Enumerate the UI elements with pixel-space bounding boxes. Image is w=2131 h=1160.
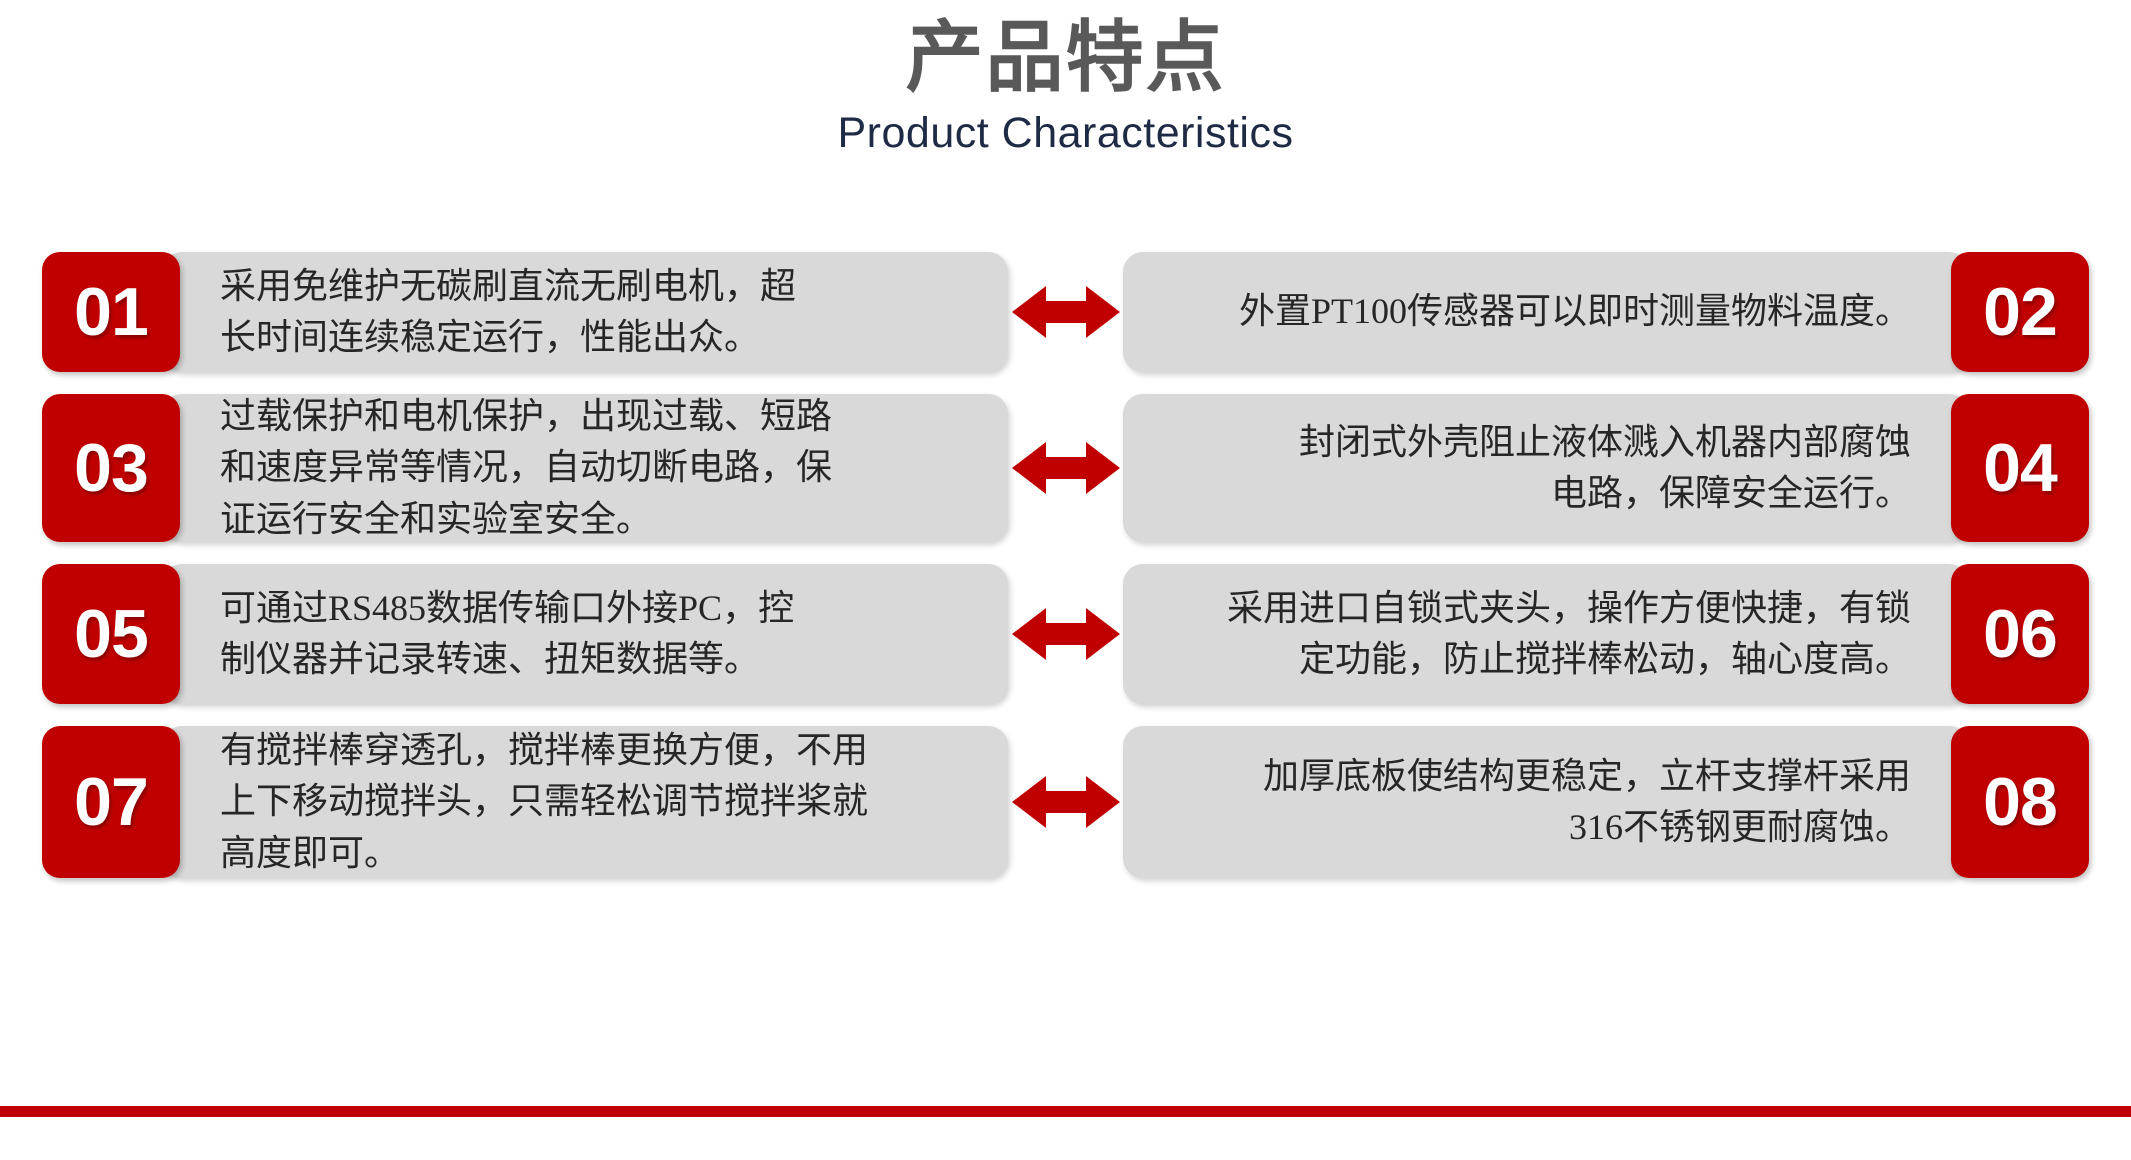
bottom-rule	[0, 1106, 2131, 1117]
feature-number-badge: 04	[1951, 394, 2089, 542]
double-arrow-icon	[1008, 252, 1123, 372]
feature-text: 采用进口自锁式夹头，操作方便快捷，有锁 定功能，防止搅拌棒松动，轴心度高。	[1149, 583, 1911, 685]
feature-number-badge: 02	[1951, 252, 2089, 372]
feature-number-badge: 05	[42, 564, 180, 704]
feature-row: 07 有搅拌棒穿透孔，搅拌棒更换方便，不用 上下移动搅拌头，只需轻松调节搅拌桨就…	[0, 726, 2131, 878]
feature-text-panel: 外置PT100传感器可以即时测量物料温度。	[1123, 252, 1969, 372]
feature-rows: 01 采用免维护无碳刷直流无刷电机，超 长时间连续稳定运行，性能出众。 02 外…	[0, 252, 2131, 900]
feature-text-panel: 可通过RS485数据传输口外接PC，控 制仪器并记录转速、扭矩数据等。	[162, 564, 1008, 704]
feature-text-panel: 过载保护和电机保护，出现过载、短路 和速度异常等情况，自动切断电路，保 证运行安…	[162, 394, 1008, 542]
feature-row: 05 可通过RS485数据传输口外接PC，控 制仪器并记录转速、扭矩数据等。 0…	[0, 564, 2131, 704]
feature-number-badge: 03	[42, 394, 180, 542]
feature-number-badge: 01	[42, 252, 180, 372]
feature-card-01[interactable]: 01 采用免维护无碳刷直流无刷电机，超 长时间连续稳定运行，性能出众。	[0, 252, 1008, 372]
page-subtitle: Product Characteristics	[0, 96, 2131, 155]
feature-card-07[interactable]: 07 有搅拌棒穿透孔，搅拌棒更换方便，不用 上下移动搅拌头，只需轻松调节搅拌桨就…	[0, 726, 1008, 878]
feature-number-badge: 08	[1951, 726, 2089, 878]
feature-card-03[interactable]: 03 过载保护和电机保护，出现过载、短路 和速度异常等情况，自动切断电路，保 证…	[0, 394, 1008, 542]
feature-text-panel: 有搅拌棒穿透孔，搅拌棒更换方便，不用 上下移动搅拌头，只需轻松调节搅拌桨就 高度…	[162, 726, 1008, 878]
feature-row: 03 过载保护和电机保护，出现过载、短路 和速度异常等情况，自动切断电路，保 证…	[0, 394, 2131, 542]
feature-text: 外置PT100传感器可以即时测量物料温度。	[1149, 286, 1911, 337]
feature-text-panel: 加厚底板使结构更稳定，立杆支撑杆采用 316不锈钢更耐腐蚀。	[1123, 726, 1969, 878]
feature-text: 过载保护和电机保护，出现过载、短路 和速度异常等情况，自动切断电路，保 证运行安…	[220, 391, 982, 544]
feature-text: 加厚底板使结构更稳定，立杆支撑杆采用 316不锈钢更耐腐蚀。	[1149, 751, 1911, 853]
feature-text-panel: 封闭式外壳阻止液体溅入机器内部腐蚀 电路，保障安全运行。	[1123, 394, 1969, 542]
feature-number-badge: 06	[1951, 564, 2089, 704]
double-arrow-icon	[1008, 394, 1123, 542]
double-arrow-icon	[1008, 726, 1123, 878]
feature-text: 封闭式外壳阻止液体溅入机器内部腐蚀 电路，保障安全运行。	[1149, 417, 1911, 519]
feature-text: 采用免维护无碳刷直流无刷电机，超 长时间连续稳定运行，性能出众。	[220, 261, 982, 363]
feature-card-06[interactable]: 06 采用进口自锁式夹头，操作方便快捷，有锁 定功能，防止搅拌棒松动，轴心度高。	[1123, 564, 2131, 704]
page-title: 产品特点	[0, 0, 2131, 96]
feature-row: 01 采用免维护无碳刷直流无刷电机，超 长时间连续稳定运行，性能出众。 02 外…	[0, 252, 2131, 372]
feature-card-02[interactable]: 02 外置PT100传感器可以即时测量物料温度。	[1123, 252, 2131, 372]
double-arrow-icon	[1008, 564, 1123, 704]
slide-header: 产品特点 Product Characteristics	[0, 0, 2131, 155]
feature-text: 可通过RS485数据传输口外接PC，控 制仪器并记录转速、扭矩数据等。	[220, 583, 982, 685]
feature-number-badge: 07	[42, 726, 180, 878]
feature-card-04[interactable]: 04 封闭式外壳阻止液体溅入机器内部腐蚀 电路，保障安全运行。	[1123, 394, 2131, 542]
feature-text-panel: 采用免维护无碳刷直流无刷电机，超 长时间连续稳定运行，性能出众。	[162, 252, 1008, 372]
feature-card-08[interactable]: 08 加厚底板使结构更稳定，立杆支撑杆采用 316不锈钢更耐腐蚀。	[1123, 726, 2131, 878]
feature-card-05[interactable]: 05 可通过RS485数据传输口外接PC，控 制仪器并记录转速、扭矩数据等。	[0, 564, 1008, 704]
feature-text: 有搅拌棒穿透孔，搅拌棒更换方便，不用 上下移动搅拌头，只需轻松调节搅拌桨就 高度…	[220, 725, 982, 878]
feature-text-panel: 采用进口自锁式夹头，操作方便快捷，有锁 定功能，防止搅拌棒松动，轴心度高。	[1123, 564, 1969, 704]
